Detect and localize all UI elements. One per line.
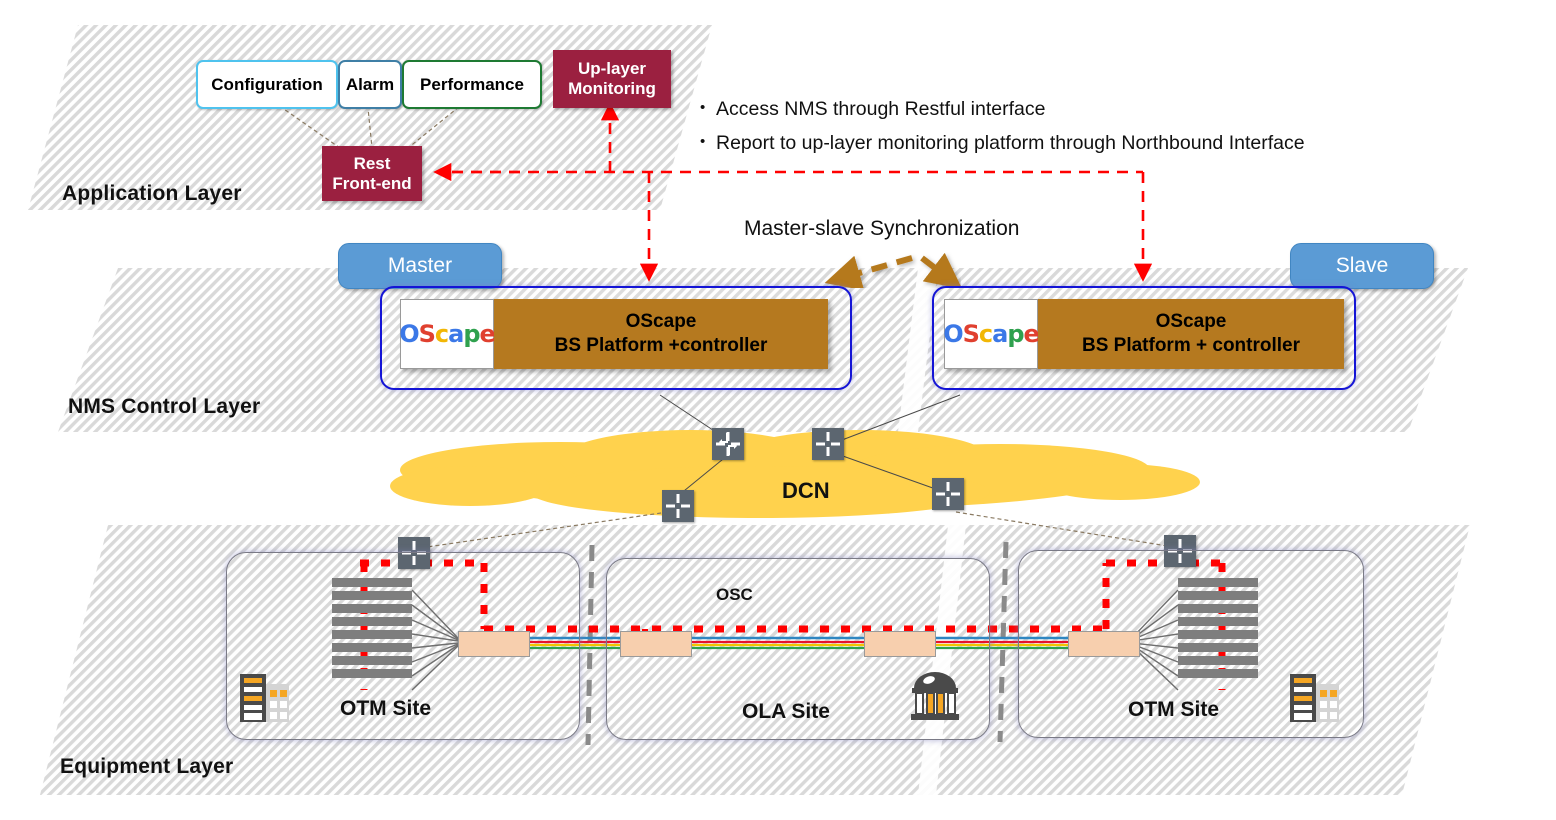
rack-right: [1178, 578, 1258, 682]
amplifier-ola-west[interactable]: [620, 631, 692, 657]
rest-front-end-line1: Rest: [354, 154, 391, 174]
rack-left: [332, 578, 412, 682]
application-layer-label: Application Layer: [62, 182, 242, 206]
performance-box[interactable]: Performance: [402, 60, 542, 109]
nms-layer-label: NMS Control Layer: [68, 395, 260, 419]
master-slave-sync-label: Master-slave Synchronization: [744, 217, 1019, 241]
amplifier-ola-east[interactable]: [864, 631, 936, 657]
slave-oscape-line2: BS Platform + controller: [1082, 334, 1300, 358]
bullet-marker: •: [700, 134, 716, 151]
oscape-logo-icon: OScape: [400, 299, 494, 369]
alarm-box[interactable]: Alarm: [338, 60, 402, 109]
up-layer-monitoring-box[interactable]: Up-layer Monitoring: [553, 50, 671, 108]
slave-oscape-row[interactable]: OScape OScape BS Platform + controller: [944, 299, 1344, 369]
office-building-icon: [236, 666, 292, 724]
bullet-text: Access NMS through Restful interface: [716, 100, 1045, 120]
oscape-logo-text: OScape: [399, 320, 495, 348]
slave-oscape-body: OScape BS Platform + controller: [1038, 299, 1344, 369]
dcn-cloud: [390, 430, 1200, 518]
up-layer-line1: Up-layer: [578, 59, 646, 79]
amplifier-otm-right[interactable]: [1068, 631, 1140, 657]
master-oscape-body: OScape BS Platform +controller: [494, 299, 828, 369]
diagram-canvas: Application Layer NMS Control Layer Equi…: [0, 0, 1556, 820]
dcn-label: DCN: [782, 478, 830, 504]
oscape-logo-icon: OScape: [944, 299, 1038, 369]
router-icon[interactable]: [712, 428, 744, 460]
equipment-layer-label: Equipment Layer: [60, 755, 233, 779]
router-icon[interactable]: [932, 478, 964, 510]
router-icon[interactable]: [812, 428, 844, 460]
otm-right-label: OTM Site: [1128, 698, 1219, 722]
bullet-item: • Report to up-layer monitoring platform…: [700, 134, 1305, 154]
master-oscape-line2: BS Platform +controller: [555, 334, 768, 358]
oscape-logo-text: OScape: [943, 320, 1039, 348]
master-tab[interactable]: Master: [338, 243, 502, 289]
bullet-item: • Access NMS through Restful interface: [700, 100, 1305, 120]
configuration-box[interactable]: Configuration: [196, 60, 338, 109]
rest-front-end-line2: Front-end: [332, 174, 411, 194]
bullet-list: • Access NMS through Restful interface •…: [700, 100, 1305, 167]
bullet-text: Report to up-layer monitoring platform t…: [716, 134, 1305, 154]
osc-label: OSC: [716, 585, 753, 605]
slave-tab[interactable]: Slave: [1290, 243, 1434, 289]
bullet-marker: •: [700, 100, 716, 117]
office-building-icon: [1286, 666, 1342, 724]
master-oscape-row[interactable]: OScape OScape BS Platform +controller: [400, 299, 828, 369]
master-oscape-line1: OScape: [626, 310, 697, 334]
otm-left-label: OTM Site: [340, 697, 431, 721]
amplifier-otm-left[interactable]: [458, 631, 530, 657]
ola-center-label: OLA Site: [742, 700, 830, 724]
rest-front-end-box[interactable]: Rest Front-end: [322, 146, 422, 201]
slave-oscape-line1: OScape: [1156, 310, 1227, 334]
bank-building-icon: [908, 668, 962, 722]
router-icon[interactable]: [662, 490, 694, 522]
up-layer-line2: Monitoring: [568, 79, 656, 99]
